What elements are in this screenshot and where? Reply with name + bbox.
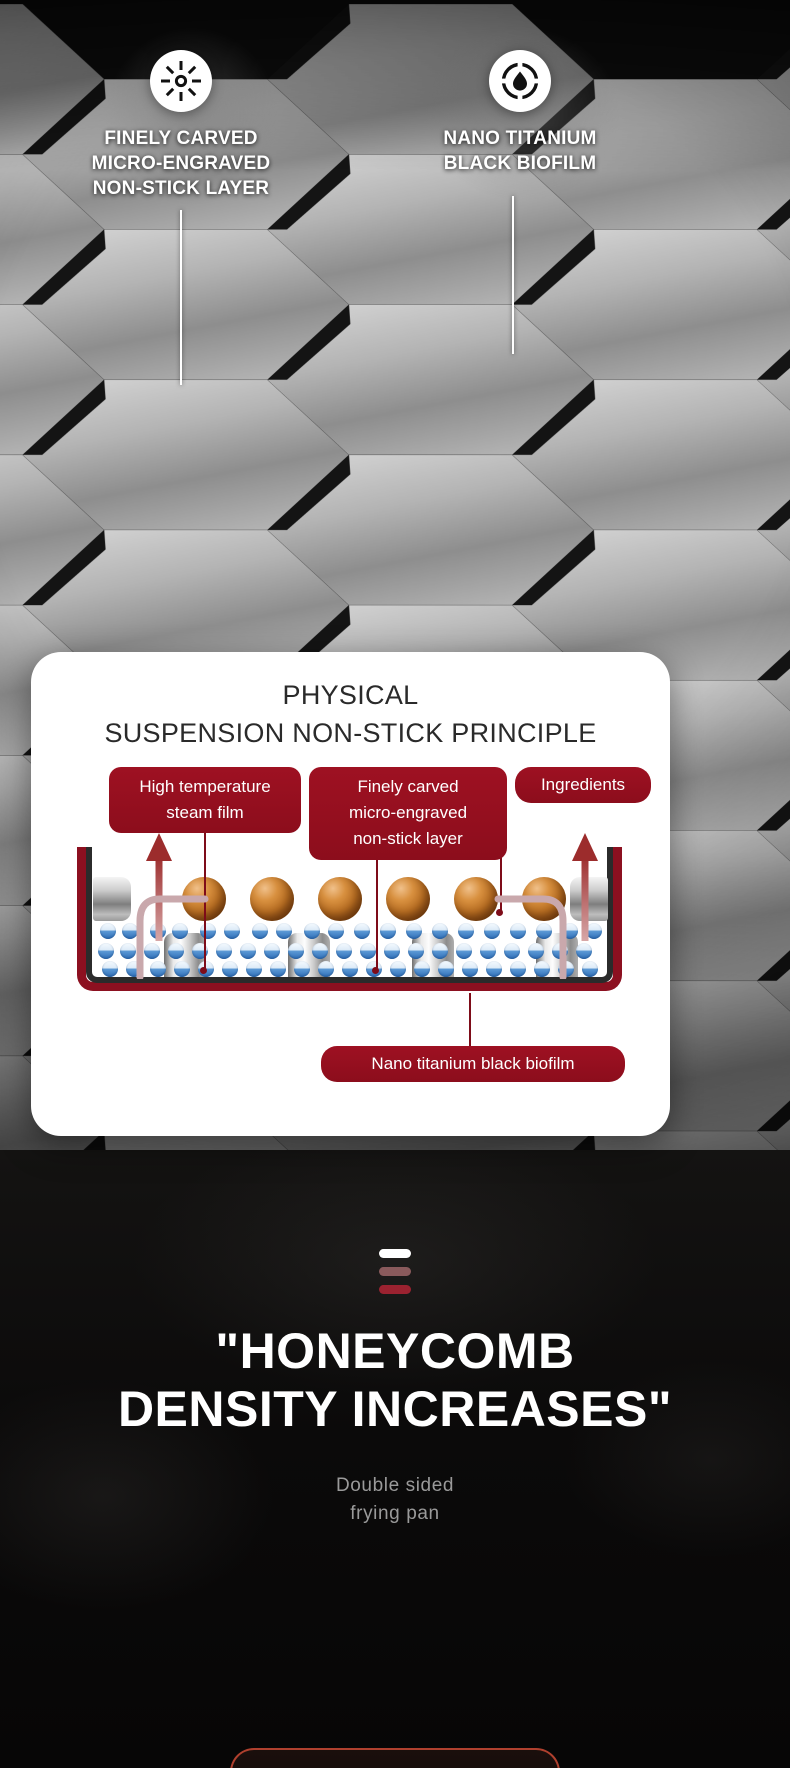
sunburst-radial-icon bbox=[150, 50, 212, 112]
bottom-headline: "HONEYCOMB DENSITY INCREASES" bbox=[0, 1322, 790, 1438]
steam-bubble bbox=[380, 923, 396, 939]
honeycomb-stud bbox=[632, 632, 673, 654]
steam-bubble bbox=[354, 923, 370, 939]
pan-cross-section-diagram: High temperature steam film Finely carve… bbox=[31, 753, 670, 1123]
steam-bubble bbox=[432, 943, 448, 959]
steam-bubble bbox=[100, 923, 116, 939]
steam-bubble bbox=[582, 961, 598, 977]
ingredient-sphere bbox=[250, 877, 294, 921]
steam-bubble bbox=[390, 961, 406, 977]
steam-bubble bbox=[294, 961, 310, 977]
steam-bubble bbox=[576, 943, 592, 959]
elbow-connector-left bbox=[130, 889, 210, 979]
leader-dot-nonstick bbox=[372, 967, 379, 974]
droplet-crosshair-icon bbox=[489, 50, 551, 112]
leader-nonstick bbox=[376, 853, 378, 971]
steam-bubble bbox=[224, 923, 240, 939]
ingredient-sphere bbox=[318, 877, 362, 921]
pan-product-preview bbox=[230, 1748, 560, 1768]
headline-line2: DENSITY INCREASES" bbox=[0, 1380, 790, 1438]
badge-ingredients: Ingredients bbox=[515, 767, 651, 803]
steam-bubble bbox=[318, 961, 334, 977]
steam-bubble bbox=[246, 961, 262, 977]
card-title-line1: PHYSICAL bbox=[31, 676, 670, 714]
steam-bubble bbox=[458, 923, 474, 939]
steam-bubble bbox=[432, 923, 448, 939]
steam-bubble bbox=[288, 943, 304, 959]
honeycomb-stud bbox=[725, 887, 766, 909]
leader-biofilm bbox=[469, 993, 471, 1046]
subtitle-line1: Double sided bbox=[0, 1472, 790, 1500]
divider-bar-red bbox=[379, 1285, 411, 1294]
steam-bubble bbox=[384, 943, 400, 959]
steam-bubble bbox=[408, 943, 424, 959]
steam-bubble bbox=[438, 961, 454, 977]
honeycomb-wall bbox=[267, 455, 593, 605]
steam-bubble bbox=[102, 961, 118, 977]
callout-label: FINELY CARVED MICRO-ENGRAVED NON-STICK L… bbox=[81, 126, 281, 201]
steam-bubble bbox=[336, 943, 352, 959]
ingredient-sphere bbox=[386, 877, 430, 921]
honeycomb-stud bbox=[725, 632, 766, 654]
steam-bubble bbox=[240, 943, 256, 959]
bottom-subtitle: Double sided frying pan bbox=[0, 1472, 790, 1527]
steam-bubble bbox=[462, 961, 478, 977]
honeycomb-stud bbox=[236, 632, 277, 654]
steam-bubble bbox=[304, 923, 320, 939]
card-title-line2: SUSPENSION NON-STICK PRINCIPLE bbox=[31, 714, 670, 752]
steam-bubble bbox=[328, 923, 344, 939]
steam-bubble bbox=[98, 943, 114, 959]
steam-bubble bbox=[276, 923, 292, 939]
ingredient-sphere bbox=[454, 877, 498, 921]
badge-nonstick-layer: Finely carved micro-engraved non-stick l… bbox=[309, 767, 507, 860]
steam-bubble bbox=[456, 943, 472, 959]
badge-nano-biofilm: Nano titanium black biofilm bbox=[321, 1046, 625, 1082]
honeycomb-stud bbox=[678, 887, 719, 909]
honeycomb-stud bbox=[142, 632, 183, 654]
divider-bar-white bbox=[379, 1249, 411, 1258]
pan-rim-knob-left bbox=[93, 877, 131, 921]
bottom-background bbox=[0, 1150, 790, 1768]
subtitle-line2: frying pan bbox=[0, 1500, 790, 1528]
steam-bubble bbox=[252, 923, 268, 939]
principle-card: PHYSICAL SUSPENSION NON-STICK PRINCIPLE bbox=[31, 652, 670, 1136]
leader-line-left bbox=[180, 210, 182, 385]
steam-bubble bbox=[216, 943, 232, 959]
callout-label: NANO TITANIUM BLACK BIOFILM bbox=[420, 126, 620, 176]
steam-bubble bbox=[342, 961, 358, 977]
bottom-hero-section: "HONEYCOMB DENSITY INCREASES" Double sid… bbox=[0, 1150, 790, 1768]
honeycomb-stud bbox=[585, 632, 626, 654]
headline-line1: "HONEYCOMB bbox=[0, 1322, 790, 1380]
honeycomb-stud bbox=[678, 632, 719, 654]
steam-bubble bbox=[414, 961, 430, 977]
steam-bubble bbox=[312, 943, 328, 959]
honeycomb-stud bbox=[189, 632, 230, 654]
callout-finely-carved: FINELY CARVED MICRO-ENGRAVED NON-STICK L… bbox=[81, 50, 281, 201]
steam-bubble bbox=[222, 961, 238, 977]
steam-bubble bbox=[360, 943, 376, 959]
elbow-connector-right bbox=[493, 889, 573, 979]
callout-nano-titanium: NANO TITANIUM BLACK BIOFILM bbox=[420, 50, 620, 176]
steam-bubble bbox=[264, 943, 280, 959]
honeycomb-wall bbox=[0, 455, 104, 605]
divider-bar-rose bbox=[379, 1267, 411, 1276]
leader-line-right bbox=[512, 196, 514, 354]
card-title: PHYSICAL SUSPENSION NON-STICK PRINCIPLE bbox=[31, 652, 670, 753]
steam-bubble bbox=[406, 923, 422, 939]
honeycomb-stud bbox=[95, 632, 136, 654]
divider-bar-stack bbox=[379, 1249, 411, 1303]
steam-bubble bbox=[270, 961, 286, 977]
badge-steam-film: High temperature steam film bbox=[109, 767, 301, 834]
